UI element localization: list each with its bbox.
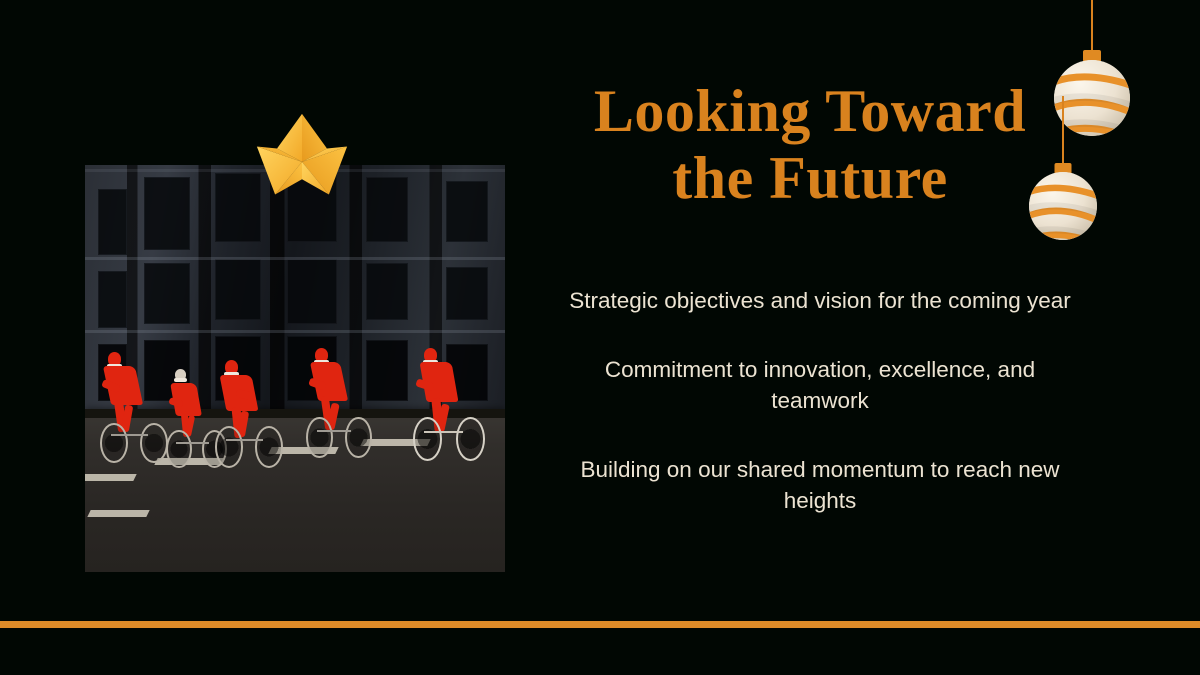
bicycle-frame [111, 434, 148, 436]
bottom-accent-rule [0, 621, 1200, 628]
building-window [446, 267, 488, 320]
santa-hat-icon [108, 352, 121, 366]
lane-marking [87, 510, 149, 517]
body-paragraph-2: Commitment to innovation, excellence, an… [560, 354, 1080, 416]
ornament-ball [1029, 172, 1097, 240]
santa-cyclist [413, 348, 497, 466]
bicycle-wheel [255, 426, 283, 467]
ornament-string [1091, 0, 1093, 53]
body-paragraph-1: Strategic objectives and vision for the … [560, 285, 1080, 316]
building-window [98, 189, 127, 254]
building-window [144, 263, 190, 324]
slide-title-line-1: Looking Toward [540, 78, 1080, 145]
slide-photo [85, 165, 505, 572]
building-window [366, 177, 408, 242]
santa-hat-icon [424, 348, 437, 362]
presentation-slide: Looking Toward the Future Strategic obje… [0, 0, 1200, 675]
bicycle-wheel [456, 417, 485, 461]
bicycle-wheel [345, 417, 372, 459]
bicycle-wheel [215, 426, 243, 467]
facade-mullion [85, 330, 505, 333]
santa-hat-icon [175, 369, 186, 380]
slide-title-line-2: the Future [540, 145, 1080, 212]
building-window [366, 263, 408, 320]
facade-mullion [85, 257, 505, 260]
gold-star-icon [254, 110, 350, 210]
bicycle-wheel [413, 417, 442, 461]
santa-hat-icon [225, 360, 238, 374]
building-window [144, 177, 190, 250]
body-paragraph-3: Building on our shared momentum to reach… [560, 454, 1080, 516]
building-window [215, 259, 261, 320]
slide-body: Strategic objectives and vision for the … [560, 285, 1080, 516]
building-window [287, 259, 337, 324]
ornament-string [1062, 96, 1064, 166]
photo-scene [85, 165, 505, 572]
bicycle-wheel [306, 417, 333, 459]
building-window [446, 181, 488, 242]
bicycle-frame [317, 430, 352, 432]
santa-cyclist [215, 360, 295, 470]
bicycle-frame [226, 439, 263, 441]
bicycle-wheel [166, 430, 191, 469]
bicycle-wheel [100, 423, 128, 463]
slide-title: Looking Toward the Future [540, 78, 1080, 212]
santa-cyclist [308, 348, 384, 462]
hanging-bauble-2 [1029, 96, 1097, 238]
bicycle-frame [176, 442, 209, 444]
santa-hat-icon [315, 348, 328, 362]
lane-marking [85, 474, 137, 481]
building-window [98, 271, 127, 328]
bicycle-frame [424, 431, 463, 433]
